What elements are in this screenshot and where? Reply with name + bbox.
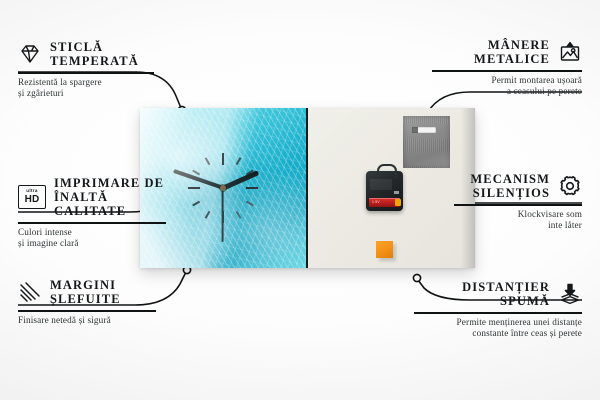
callout-header: ultra HD IMPRIMARE DE ÎNALTĂ CALITATE: [18, 176, 166, 218]
callout-header: MARGINI ȘLEFUITE: [18, 278, 156, 306]
callout-title: DISTANȚIER SPUMĂ: [462, 280, 550, 308]
callout-rule: [18, 72, 154, 74]
diamond-icon: [18, 42, 42, 66]
callout-silent-mechanism: MECANISM SILENȚIOS Klockvisare som inte …: [454, 172, 582, 232]
callout-metal-handles: MÂNERE METALICE Permit montarea ușoară a…: [432, 38, 582, 98]
callout-tempered-glass: STICLĂ TEMPERATĂ Rezistentă la spargere …: [18, 40, 154, 100]
callout-header: STICLĂ TEMPERATĂ: [18, 40, 154, 68]
ultra-hd-icon-main-label: HD: [25, 195, 40, 205]
infographic-stage: 1.5V STICLĂ TEMPERATĂ Rezistentă la spar…: [0, 0, 600, 400]
callout-rule: [414, 312, 582, 314]
ultra-hd-icon: ultra HD: [18, 185, 46, 209]
callout-header: DISTANȚIER SPUMĂ: [414, 280, 582, 308]
callout-title: IMPRIMARE DE ÎNALTĂ CALITATE: [54, 176, 166, 218]
callout-subtitle: Rezistentă la spargere și zgârieturi: [18, 77, 154, 100]
clock-second-hand: [222, 188, 224, 242]
callout-subtitle: Culori intense și imagine clară: [18, 227, 166, 250]
metal-hanger-plate: [403, 116, 450, 168]
callout-header: MÂNERE METALICE: [432, 38, 582, 66]
callout-rule: [432, 70, 582, 72]
battery-plus-terminal: [395, 199, 401, 206]
callout-subtitle: Permit montarea ușoară a ceasului pe per…: [432, 75, 582, 98]
battery-voltage-label: 1.5V: [372, 199, 380, 206]
callout-subtitle: Finisare netedă și sigură: [18, 315, 156, 327]
callout-rule: [18, 222, 166, 224]
mechanism-adjust-knob: [394, 191, 399, 194]
callout-subtitle: Klockvisare som inte låter: [454, 209, 582, 232]
aa-battery: 1.5V: [369, 198, 400, 207]
callout-high-quality-print: ultra HD IMPRIMARE DE ÎNALTĂ CALITATE Cu…: [18, 176, 166, 250]
clock-minute-hand: [173, 169, 223, 189]
quartz-clock-mechanism: 1.5V: [366, 171, 403, 211]
clock-hour-hand: [222, 170, 259, 190]
callout-title: MÂNERE METALICE: [474, 38, 550, 66]
callout-rule: [18, 310, 156, 312]
hatch-lines-icon: [18, 280, 42, 304]
gear-icon: [558, 174, 582, 198]
callout-subtitle: Permite menținerea unei distanțe constan…: [414, 317, 582, 340]
callout-title: MECANISM SILENȚIOS: [470, 172, 550, 200]
callout-foam-spacer: DISTANȚIER SPUMĂ Permite menținerea unei…: [414, 280, 582, 340]
clock-back-panel: 1.5V: [308, 108, 475, 268]
hanging-frame-icon: [558, 40, 582, 64]
mechanism-hanging-loop: [377, 164, 397, 178]
callout-header: MECANISM SILENȚIOS: [454, 172, 582, 200]
callout-title: STICLĂ TEMPERATĂ: [50, 40, 139, 68]
callout-title: MARGINI ȘLEFUITE: [50, 278, 121, 306]
hanger-slot: [412, 127, 436, 133]
callout-polished-edges: MARGINI ȘLEFUITE Finisare netedă și sigu…: [18, 278, 156, 326]
callout-rule: [454, 204, 582, 206]
mechanism-label: [370, 179, 392, 190]
arrow-onto-layers-icon: [558, 282, 582, 306]
product-image: 1.5V: [140, 108, 475, 268]
clock-center-pin: [220, 185, 226, 191]
orange-foam-spacer: [376, 241, 393, 258]
